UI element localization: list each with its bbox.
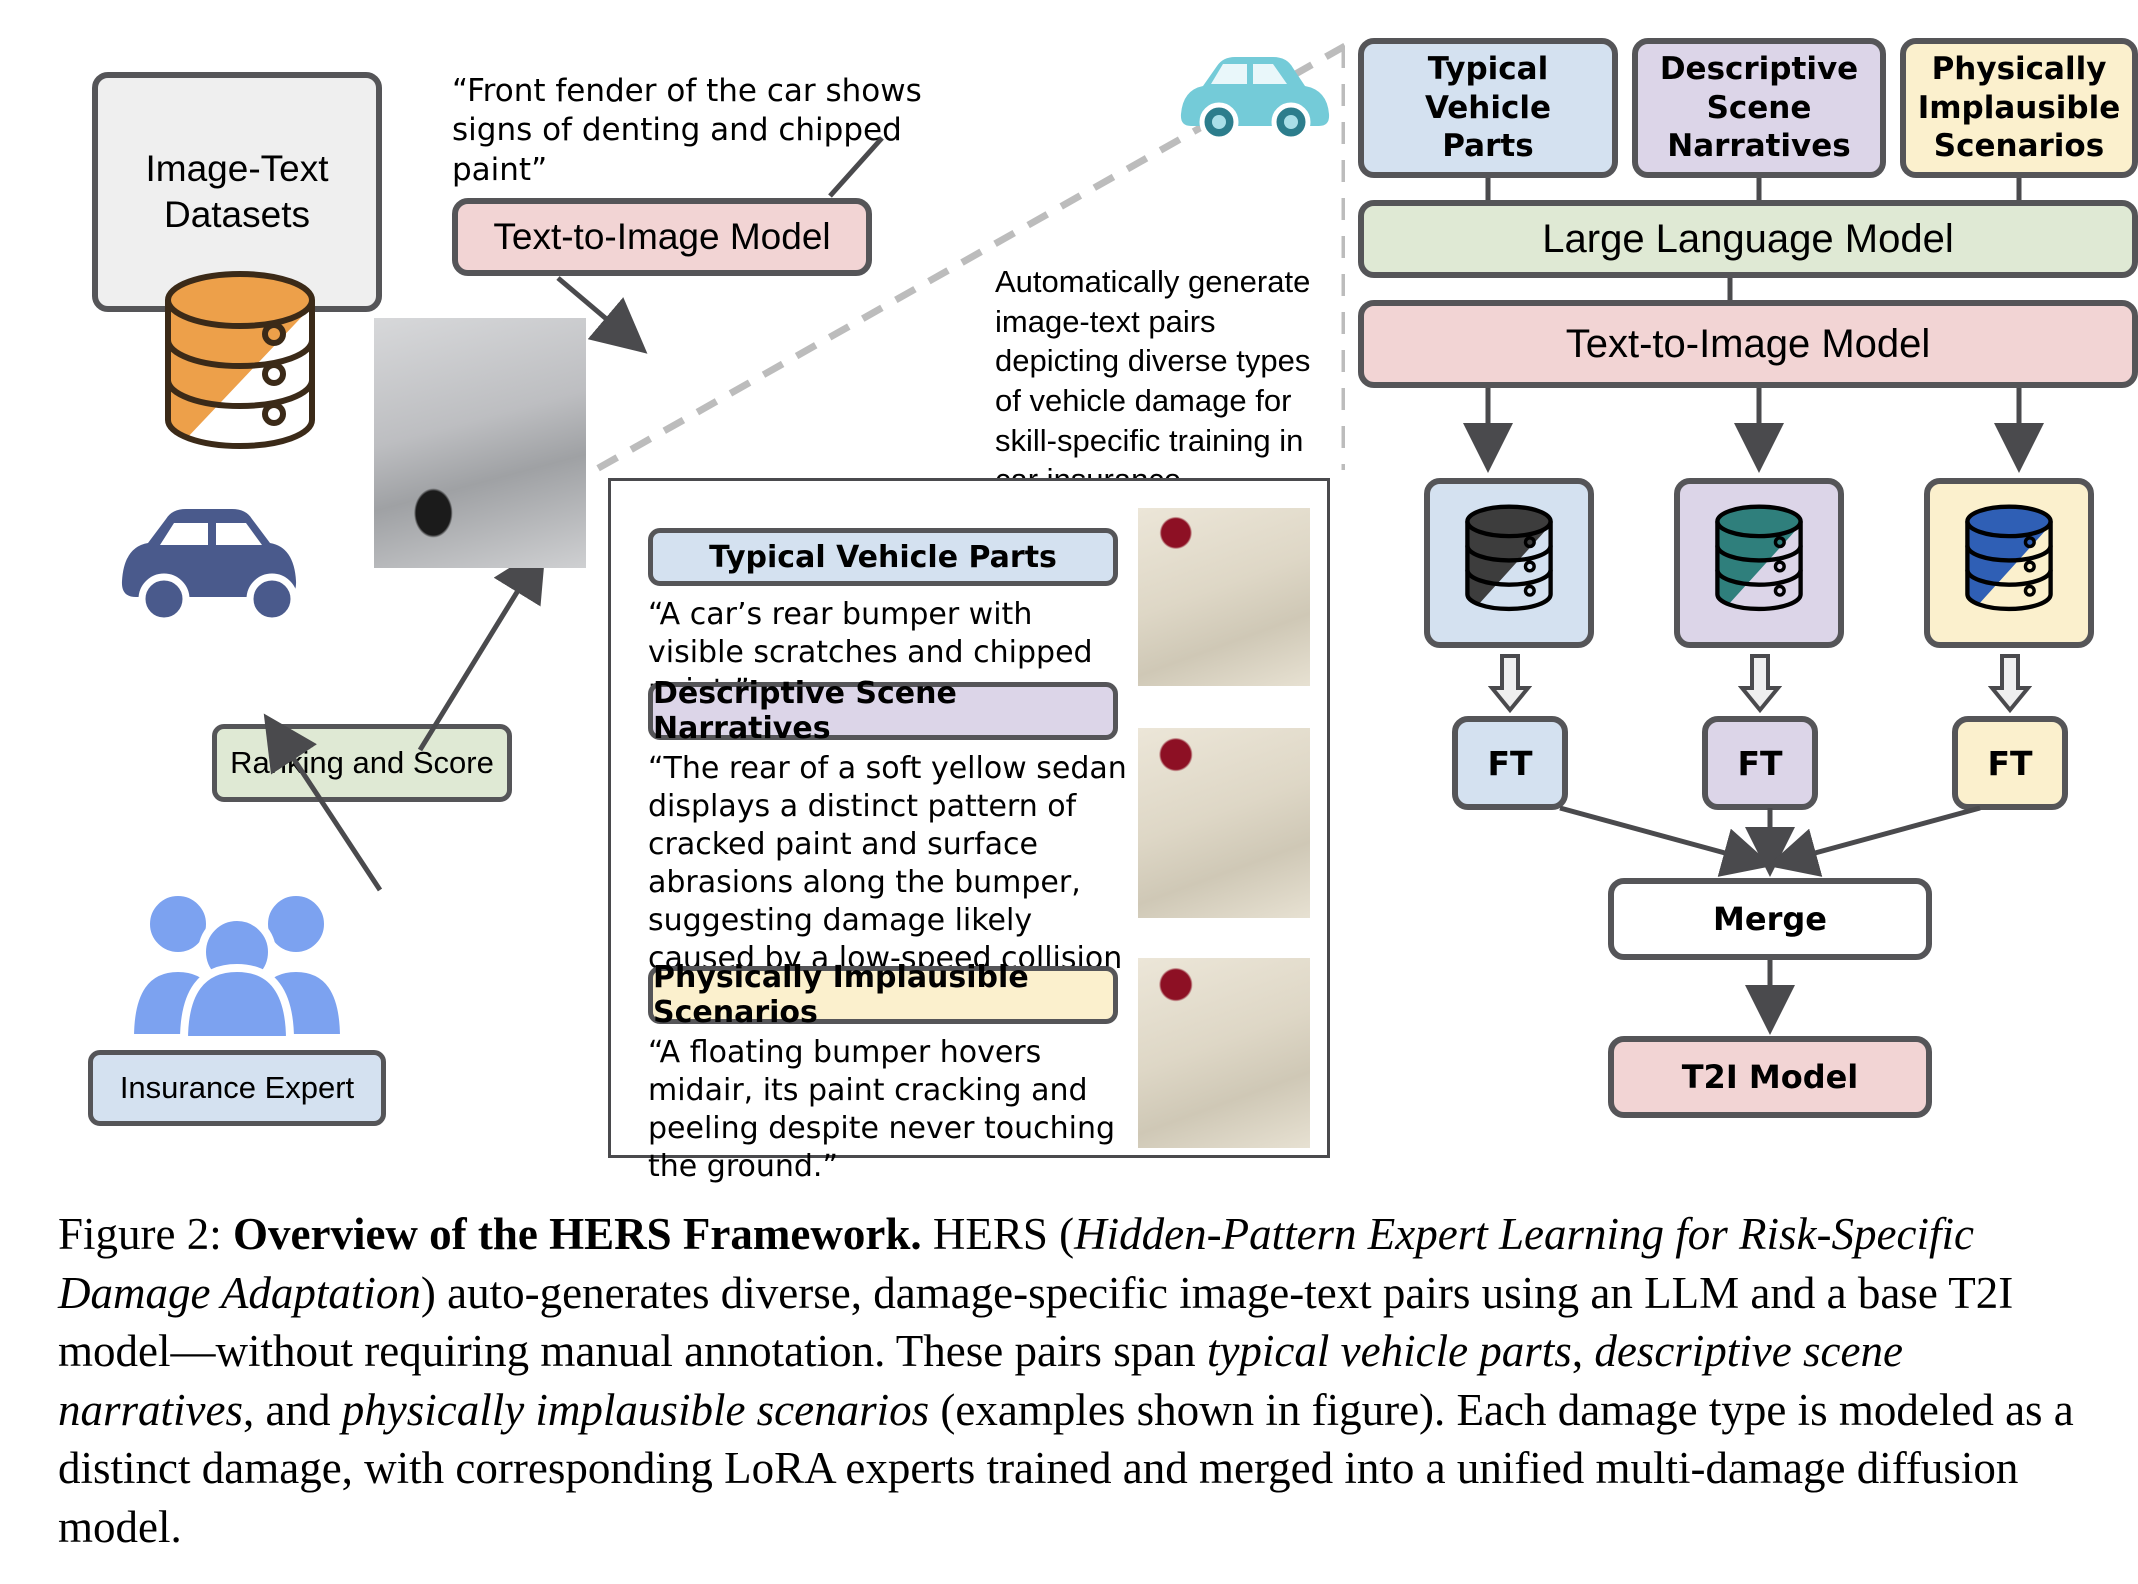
t2i-model-final-label: T2I Model <box>1682 1058 1859 1096</box>
ft-label: FT <box>1487 744 1532 783</box>
tag-label: Descriptive Scene Narratives <box>653 676 1113 746</box>
large-language-model-box: Large Language Model <box>1358 200 2138 278</box>
block-arrow-dataset-to-ft-3 <box>1988 654 2032 714</box>
example-image-typical-vehicle-parts <box>1138 508 1310 686</box>
ft-box-typical-vehicle-parts: FT <box>1452 716 1568 810</box>
tag-typical-vehicle-parts: Typical Vehicle Parts <box>648 528 1118 586</box>
people-group-icon <box>122 880 352 1040</box>
skill-box-label: Descriptive Scene Narratives <box>1660 50 1858 166</box>
tag-label: Physically Implausible Scenarios <box>653 960 1113 1030</box>
tag-label: Typical Vehicle Parts <box>709 540 1057 575</box>
skill-box-physically-implausible-scenarios: Physically Implausible Scenarios <box>1900 38 2138 178</box>
ft-label: FT <box>1737 744 1782 783</box>
ft-box-descriptive-scene-narratives: FT <box>1702 716 1818 810</box>
block-arrow-dataset-to-ft-2 <box>1738 654 1782 714</box>
teal-car-icon <box>1175 44 1335 144</box>
caption-italic-4: physically implausible scenarios <box>342 1385 929 1435</box>
tag-descriptive-scene-narratives: Descriptive Scene Narratives <box>648 682 1118 740</box>
t2i-model-final-box: T2I Model <box>1608 1036 1932 1118</box>
dataset-box-typical-vehicle-parts <box>1424 478 1594 648</box>
generated-damage-image <box>374 318 586 568</box>
ft-label: FT <box>1987 744 2032 783</box>
caption-body-1: HERS ( <box>922 1209 1075 1259</box>
caption-body-3: , <box>1572 1326 1595 1376</box>
database-icon <box>1957 502 2061 624</box>
ft-box-physically-implausible-scenarios: FT <box>1952 716 2068 810</box>
connector-llm-to-t2i <box>1700 278 1760 302</box>
large-language-model-label: Large Language Model <box>1542 217 1953 262</box>
car-icon <box>108 495 328 625</box>
skill-box-typical-vehicle-parts: Typical Vehicle Parts <box>1358 38 1618 178</box>
arrow-ranking-to-image <box>300 540 570 760</box>
insurance-expert-label: Insurance Expert <box>120 1070 354 1106</box>
skill-box-descriptive-scene-narratives: Descriptive Scene Narratives <box>1632 38 1886 178</box>
block-arrow-dataset-to-ft-1 <box>1488 654 1532 714</box>
image-text-datasets-label: Image-Text Datasets <box>145 146 328 239</box>
dataset-box-physically-implausible-scenarios <box>1924 478 2094 648</box>
text-to-image-model-box-pipeline: Text-to-Image Model <box>1358 300 2138 388</box>
skill-box-label: Physically Implausible Scenarios <box>1918 50 2121 166</box>
merge-box: Merge <box>1608 878 1932 960</box>
caption-italic-2: typical vehicle parts <box>1207 1326 1572 1376</box>
figure-canvas: Image-Text Datasets <box>0 0 2138 1180</box>
text-to-image-model-label-pipeline: Text-to-Image Model <box>1566 322 1931 367</box>
database-icon <box>1457 502 1561 624</box>
quote-physically-implausible-scenarios: “A floating bumper hovers midair, its pa… <box>648 1034 1118 1186</box>
insurance-expert-box: Insurance Expert <box>88 1050 386 1126</box>
example-image-physically-implausible-scenarios <box>1138 958 1310 1148</box>
arrows-t2i-to-datasets <box>1358 388 2138 476</box>
database-icon <box>150 270 330 470</box>
example-image-descriptive-scene-narratives <box>1138 728 1310 918</box>
database-icon <box>1707 502 1811 624</box>
arrow-merge-to-t2i-model <box>1740 960 1800 1036</box>
merge-label: Merge <box>1713 900 1827 938</box>
tag-physically-implausible-scenarios: Physically Implausible Scenarios <box>648 966 1118 1024</box>
caption-body-4: , and <box>243 1385 342 1435</box>
connector-skills-to-llm <box>1358 178 2138 202</box>
dataset-box-descriptive-scene-narratives <box>1674 478 1844 648</box>
figure-caption: Figure 2: Overview of the HERS Framework… <box>58 1205 2088 1556</box>
skill-box-label: Typical Vehicle Parts <box>1425 50 1551 166</box>
caption-prefix: Figure 2: <box>58 1209 233 1259</box>
arrows-ft-to-merge <box>1440 806 2100 880</box>
caption-title: Overview of the HERS Framework. <box>233 1209 922 1259</box>
